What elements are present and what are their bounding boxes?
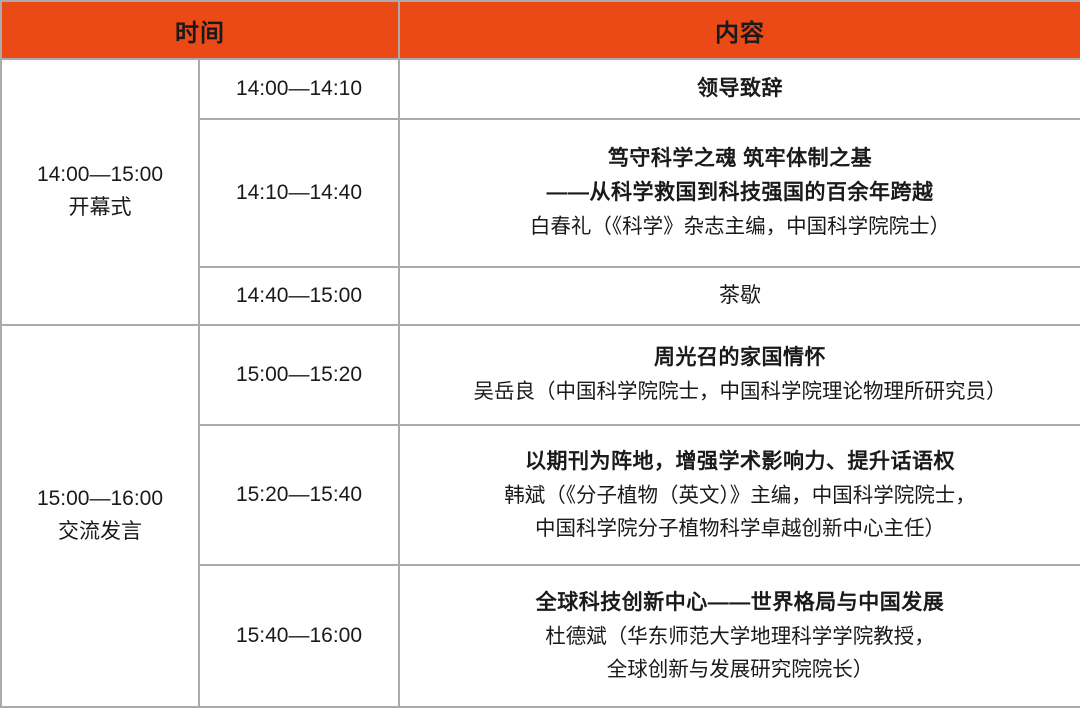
session-name: 交流发言 [8, 516, 192, 549]
slot-time: 14:00—14:10 [199, 59, 399, 119]
slot-content: 以期刊为阵地，增强学术影响力、提升话语权韩斌（《分子植物（英文）》主编，中国科学… [399, 425, 1080, 565]
session-cell: 14:00—15:00开幕式 [1, 59, 199, 325]
table-header: 时间 内容 [1, 1, 1080, 59]
slot-time: 15:40—16:00 [199, 565, 399, 707]
speaker-line: 中国科学院分子植物科学卓越创新中心主任） [414, 512, 1066, 545]
session-title: ——从科学救国到科技强国的百余年跨越 [414, 176, 1066, 210]
table-row: 14:00—15:00开幕式14:00—14:10领导致辞 [1, 59, 1080, 119]
slot-time: 15:20—15:40 [199, 425, 399, 565]
session-text: 茶歇 [414, 279, 1066, 313]
table-body: 14:00—15:00开幕式14:00—14:10领导致辞14:10—14:40… [1, 59, 1080, 707]
speaker-line: 全球创新与发展研究院院长） [414, 653, 1066, 686]
slot-content: 领导致辞 [399, 59, 1080, 119]
speaker-line: 白春礼（《科学》杂志主编，中国科学院院士） [414, 210, 1066, 243]
agenda-table: 时间 内容 14:00—15:00开幕式14:00—14:10领导致辞14:10… [0, 0, 1080, 708]
session-title: 周光召的家国情怀 [414, 341, 1066, 375]
slot-time: 14:10—14:40 [199, 119, 399, 267]
session-title: 笃守科学之魂 筑牢体制之基 [414, 142, 1066, 176]
session-cell: 15:00—16:00交流发言 [1, 325, 199, 707]
session-name: 开幕式 [8, 192, 192, 225]
slot-time: 15:00—15:20 [199, 325, 399, 425]
session-time-range: 14:00—15:00 [8, 159, 192, 192]
slot-content: 笃守科学之魂 筑牢体制之基——从科学救国到科技强国的百余年跨越白春礼（《科学》杂… [399, 119, 1080, 267]
slot-content: 周光召的家国情怀吴岳良（中国科学院院士，中国科学院理论物理所研究员） [399, 325, 1080, 425]
speaker-line: 杜德斌（华东师范大学地理科学学院教授， [414, 620, 1066, 653]
column-header-time: 时间 [1, 1, 399, 59]
session-title: 领导致辞 [414, 72, 1066, 106]
speaker-line: 吴岳良（中国科学院院士，中国科学院理论物理所研究员） [414, 375, 1066, 408]
slot-content: 全球科技创新中心——世界格局与中国发展杜德斌（华东师范大学地理科学学院教授，全球… [399, 565, 1080, 707]
column-header-content: 内容 [399, 1, 1080, 59]
slot-content: 茶歇 [399, 267, 1080, 325]
speaker-line: 韩斌（《分子植物（英文）》主编，中国科学院院士， [414, 479, 1066, 512]
session-title: 全球科技创新中心——世界格局与中国发展 [414, 586, 1066, 620]
header-row: 时间 内容 [1, 1, 1080, 59]
session-time-range: 15:00—16:00 [8, 483, 192, 516]
table-row: 15:00—16:00交流发言15:00—15:20周光召的家国情怀吴岳良（中国… [1, 325, 1080, 425]
session-title: 以期刊为阵地，增强学术影响力、提升话语权 [414, 445, 1066, 479]
slot-time: 14:40—15:00 [199, 267, 399, 325]
